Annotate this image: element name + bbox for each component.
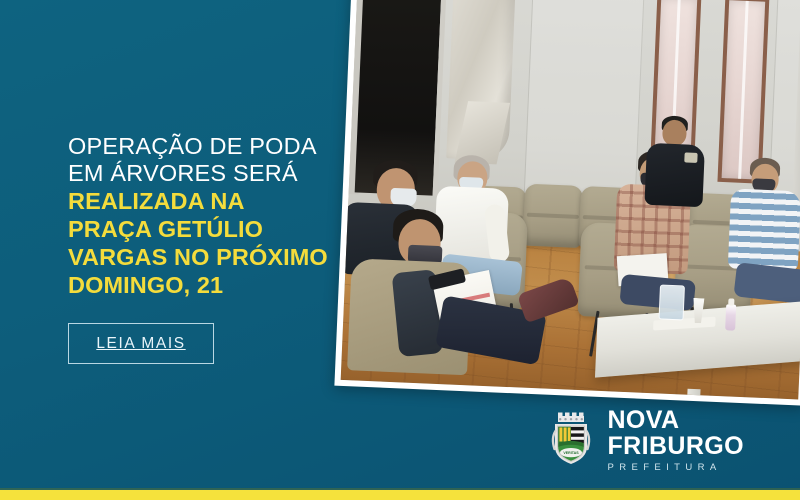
read-more-button[interactable]: LEIA MAIS bbox=[68, 323, 214, 364]
curtain bbox=[446, 0, 515, 161]
bottom-accent-strip bbox=[0, 490, 800, 500]
uniform-patch bbox=[684, 152, 697, 163]
hand-sanitizer-bottle bbox=[725, 304, 736, 330]
torso bbox=[728, 188, 800, 271]
headline-line-6: DOMINGO, 21 bbox=[68, 271, 358, 299]
headline-line-1: OPERAÇÃO DE PODA bbox=[68, 133, 358, 160]
meeting-photo bbox=[341, 0, 800, 399]
banner-root: OPERAÇÃO DE PODA EM ÁRVORES SERÁ REALIZA… bbox=[0, 0, 800, 500]
photo-frame bbox=[334, 0, 800, 406]
headline-line-4: PRAÇA GETÚLIO bbox=[68, 215, 358, 243]
logo-line-1: NOVA bbox=[607, 407, 744, 433]
chair bbox=[523, 184, 584, 248]
logo-line-3: PREFEITURA bbox=[607, 463, 744, 473]
logo-line-2: FRIBURGO bbox=[607, 433, 744, 459]
headline-line-3: REALIZADA NA bbox=[68, 187, 358, 215]
coat-of-arms-icon: VERITAS bbox=[548, 411, 594, 467]
water-pitcher bbox=[659, 284, 685, 320]
headline-line-5: VARGAS NO PRÓXIMO bbox=[68, 243, 358, 271]
headline: OPERAÇÃO DE PODA EM ÁRVORES SERÁ REALIZA… bbox=[68, 133, 358, 299]
headline-line-2: EM ÁRVORES SERÁ bbox=[68, 160, 358, 187]
nova-friburgo-logo[interactable]: VERITAS NOVA FRIBURGO PREFEITURA bbox=[548, 407, 744, 473]
window bbox=[717, 0, 769, 184]
table-leg bbox=[685, 389, 700, 400]
head bbox=[662, 119, 687, 146]
svg-text:VERITAS: VERITAS bbox=[564, 451, 580, 455]
text-block: OPERAÇÃO DE PODA EM ÁRVORES SERÁ REALIZA… bbox=[68, 133, 358, 364]
logo-wordmark: NOVA FRIBURGO PREFEITURA bbox=[607, 407, 744, 473]
window-sash bbox=[738, 1, 749, 179]
